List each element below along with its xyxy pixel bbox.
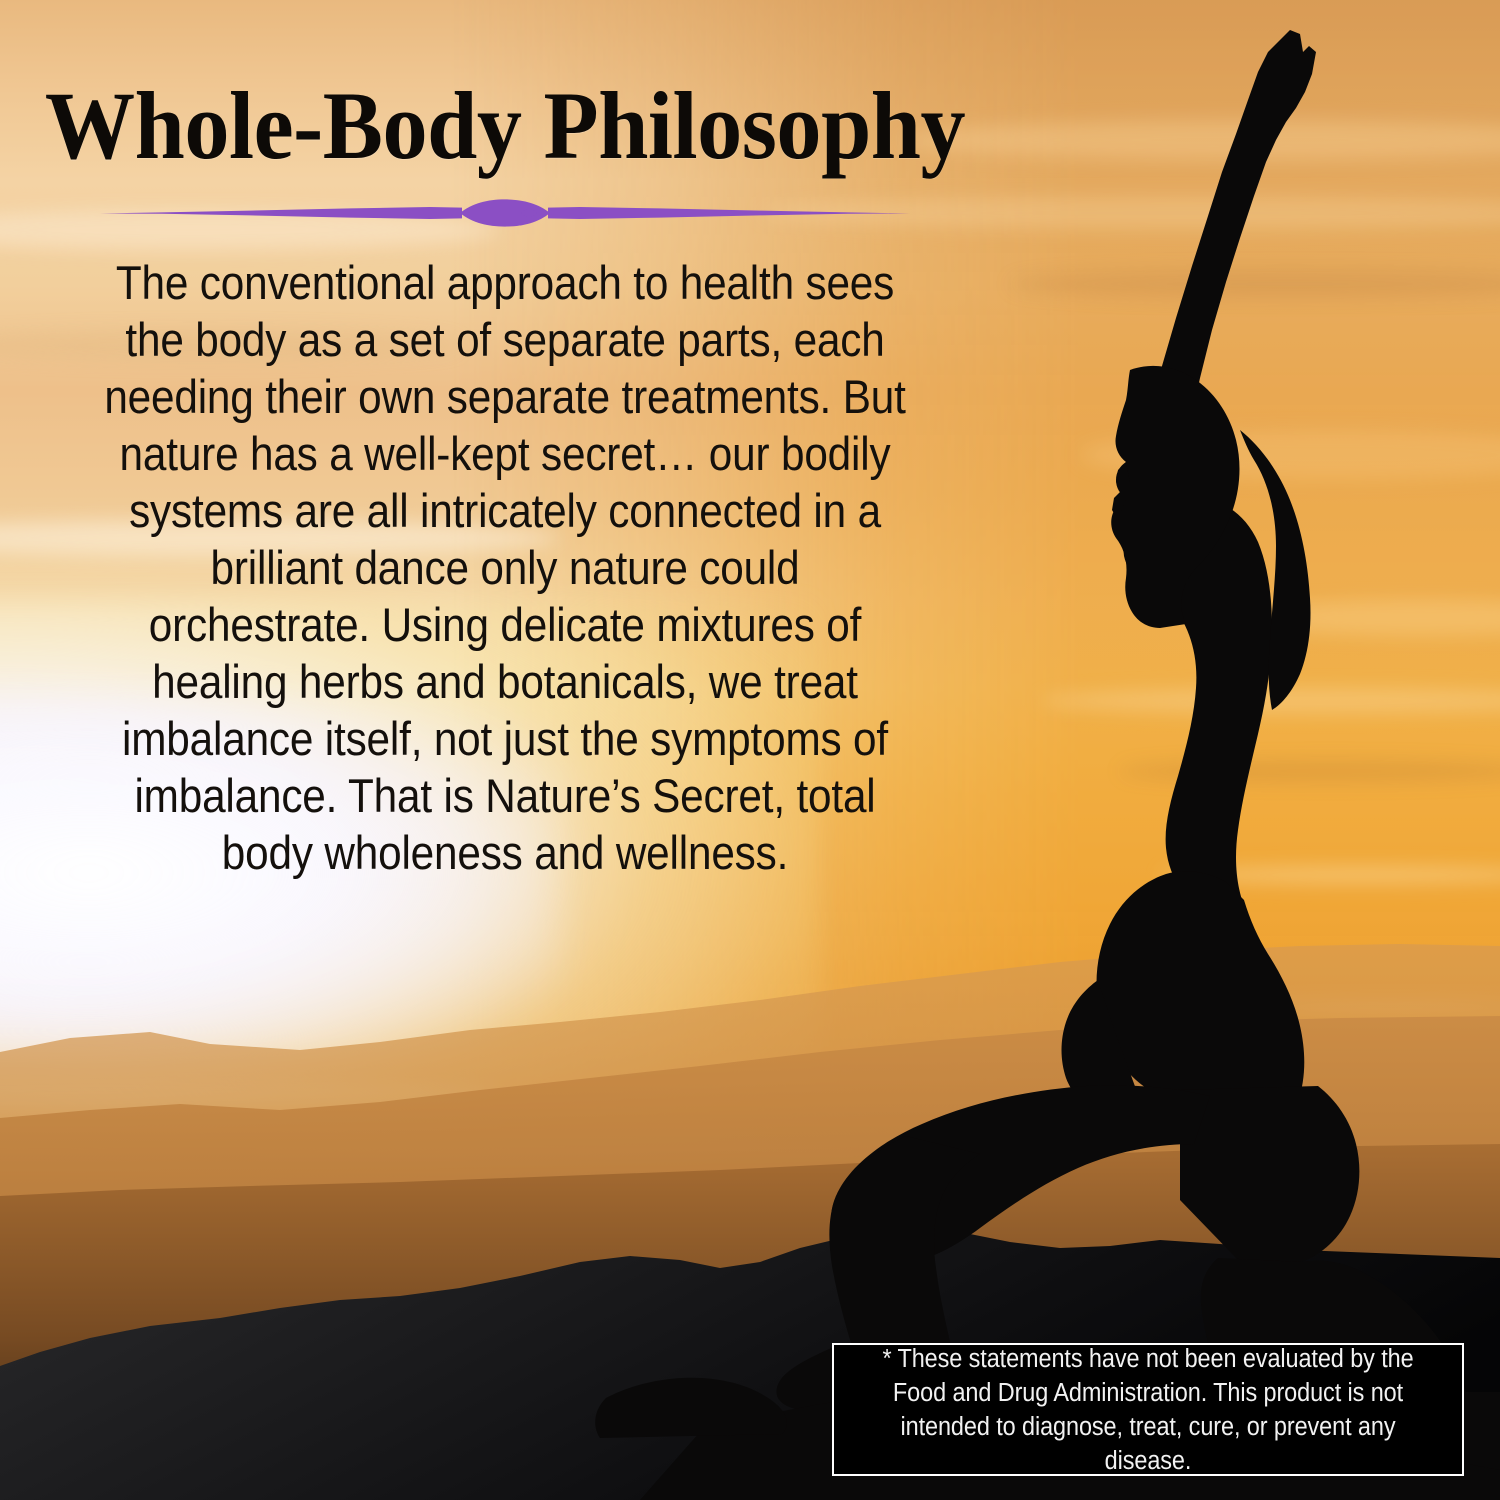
- fda-disclaimer-text: * These statements have not been evaluat…: [859, 1342, 1437, 1478]
- fda-disclaimer-box: * These statements have not been evaluat…: [832, 1343, 1464, 1476]
- text-content-column: Whole-Body Philosophy The conventional a…: [0, 0, 1010, 881]
- ornamental-divider-icon: [100, 196, 910, 230]
- product-infographic-panel: Whole-Body Philosophy The conventional a…: [0, 0, 1500, 1500]
- body-paragraph: The conventional approach to health sees…: [100, 254, 910, 881]
- page-title: Whole-Body Philosophy: [30, 78, 979, 174]
